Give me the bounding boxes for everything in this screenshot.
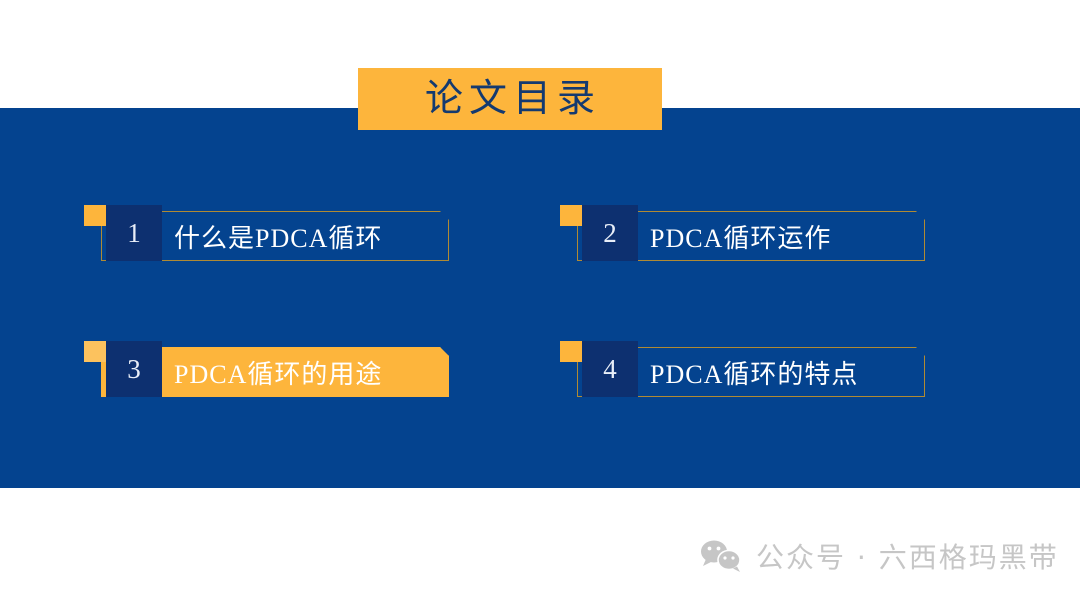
agenda-item-number: 1 <box>106 205 162 261</box>
wechat-icon <box>700 539 742 573</box>
slide-title-box: 论文目录 <box>358 68 662 130</box>
agenda-item-label: 什么是PDCA循环 <box>174 211 441 261</box>
agenda-item-number: 4 <box>582 341 638 397</box>
agenda-item-2[interactable]: 2 PDCA循环运作 <box>577 211 925 261</box>
agenda-item-4[interactable]: 4 PDCA循环的特点 <box>577 347 925 397</box>
content-panel <box>0 108 1080 488</box>
agenda-item-label: PDCA循环的用途 <box>174 347 441 397</box>
agenda-item-label: PDCA循环的特点 <box>650 347 917 397</box>
agenda-item-number: 3 <box>106 341 162 397</box>
footer-watermark: 公众号 · 六西格玛黑带 <box>700 536 1059 576</box>
agenda-item-1[interactable]: 1 什么是PDCA循环 <box>101 211 449 261</box>
agenda-item-number: 2 <box>582 205 638 261</box>
agenda-item-3[interactable]: 3 PDCA循环的用途 <box>101 347 449 397</box>
footer-label: 公众号 · 六西格玛黑带 <box>756 536 1059 576</box>
slide-canvas: 论文目录 1 什么是PDCA循环 2 PDCA循环运作 3 PDCA循环的用途 … <box>0 0 1080 608</box>
page-title: 论文目录 <box>419 80 601 118</box>
agenda-item-label: PDCA循环运作 <box>650 211 917 261</box>
